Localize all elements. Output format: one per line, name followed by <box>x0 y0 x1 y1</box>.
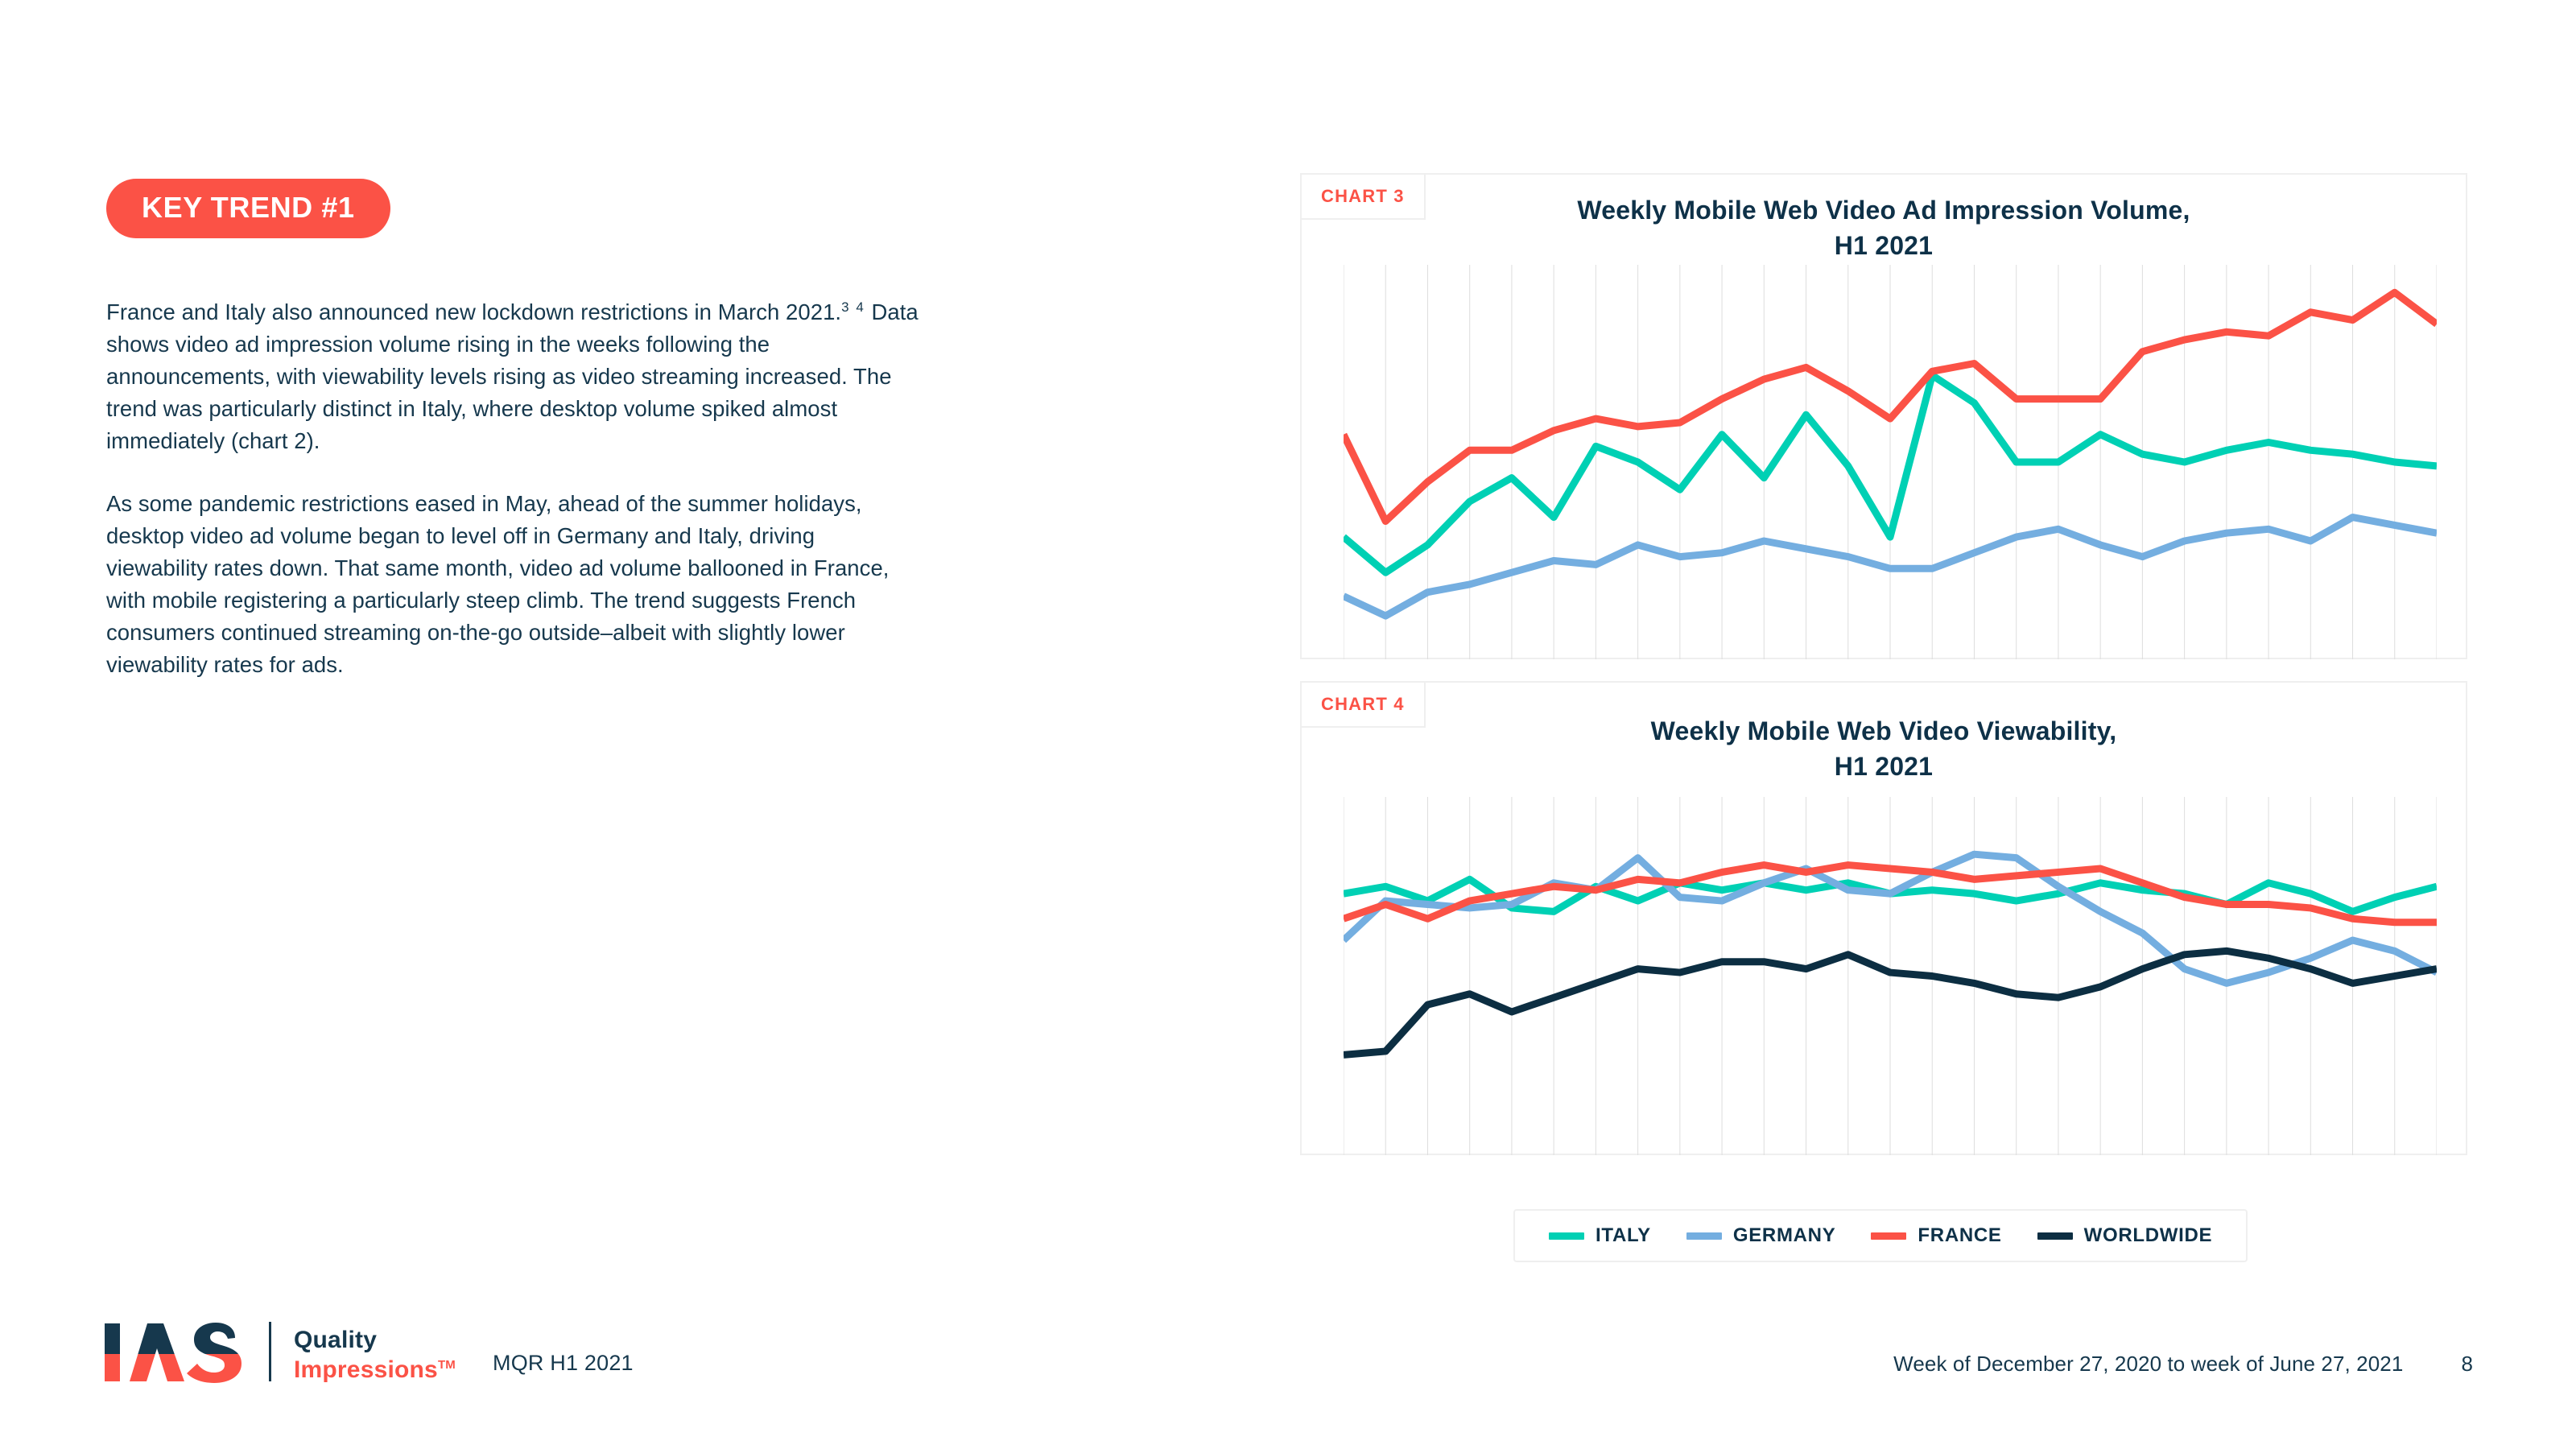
trademark-symbol: TM <box>438 1358 456 1372</box>
footer-page-number: 8 <box>2461 1352 2473 1377</box>
chart-4-title: Weekly Mobile Web Video Viewability, H1 … <box>1302 713 2466 784</box>
legend-label-italy: ITALY <box>1596 1224 1651 1247</box>
legend-label-germany: GERMANY <box>1733 1224 1836 1247</box>
legend-swatch-italy <box>1549 1232 1584 1240</box>
legend-swatch-germany <box>1686 1232 1722 1240</box>
body-paragraph-1: France and Italy also announced new lock… <box>106 291 919 457</box>
legend-item-worldwide[interactable]: WORLDWIDE <box>2037 1224 2213 1247</box>
legend-swatch-worldwide <box>2037 1232 2073 1240</box>
body-paragraph-2: As some pandemic restrictions eased in M… <box>106 488 919 681</box>
chart-4-plot-area <box>1344 797 2437 1155</box>
chart-3-plot-area <box>1344 265 2437 659</box>
chart-3-title-line-1: Weekly Mobile Web Video Ad Impression Vo… <box>1302 192 2466 228</box>
legend-label-france: FRANCE <box>1918 1224 2001 1247</box>
footnote-reference: 3 4 <box>841 299 865 315</box>
legend-item-italy[interactable]: ITALY <box>1549 1224 1651 1247</box>
chart-3-title: Weekly Mobile Web Video Ad Impression Vo… <box>1302 192 2466 263</box>
chart-4-line-graph <box>1344 797 2437 1155</box>
key-trend-badge: KEY TREND #1 <box>106 179 390 238</box>
legend-label-worldwide: WORLDWIDE <box>2084 1224 2213 1247</box>
legend-item-france[interactable]: FRANCE <box>1871 1224 2001 1247</box>
footer-meta: Week of December 27, 2020 to week of Jun… <box>1893 1352 2473 1377</box>
charts-column: CHART 3 Weekly Mobile Web Video Ad Impre… <box>1300 173 2467 1155</box>
legend-swatch-france <box>1871 1232 1906 1240</box>
paragraph-1-lead: France and Italy also announced new lock… <box>106 299 841 324</box>
logo-wordmark: Quality ImpressionsTM <box>294 1328 456 1382</box>
footer-brand: Quality ImpressionsTM MQR H1 2021 <box>103 1322 634 1383</box>
legend-item-germany[interactable]: GERMANY <box>1686 1224 1836 1247</box>
wordmark-quality: Quality <box>294 1328 456 1352</box>
logo-divider <box>269 1322 271 1381</box>
chart-3-line-graph <box>1344 265 2437 659</box>
chart-4-title-line-1: Weekly Mobile Web Video Viewability, <box>1302 713 2466 749</box>
wordmark-impressions: ImpressionsTM <box>294 1358 456 1382</box>
footer-report-label: MQR H1 2021 <box>493 1351 634 1376</box>
chart-panel-3: CHART 3 Weekly Mobile Web Video Ad Impre… <box>1300 173 2467 659</box>
chart-4-title-line-2: H1 2021 <box>1302 749 2466 784</box>
chart-3-title-line-2: H1 2021 <box>1302 228 2466 263</box>
ias-logo-icon <box>103 1322 246 1383</box>
footer-date-range: Week of December 27, 2020 to week of Jun… <box>1893 1352 2403 1377</box>
chart-panel-4: CHART 4 Weekly Mobile Web Video Viewabil… <box>1300 681 2467 1155</box>
chart-legend: ITALY GERMANY FRANCE WORLDWIDE <box>1513 1209 2248 1262</box>
wordmark-impressions-text: Impressions <box>294 1356 438 1383</box>
article-text-column: KEY TREND #1 France and Italy also annou… <box>106 179 919 681</box>
chart-4-tag: CHART 4 <box>1300 681 1426 728</box>
chart-3-tag: CHART 3 <box>1300 173 1426 220</box>
